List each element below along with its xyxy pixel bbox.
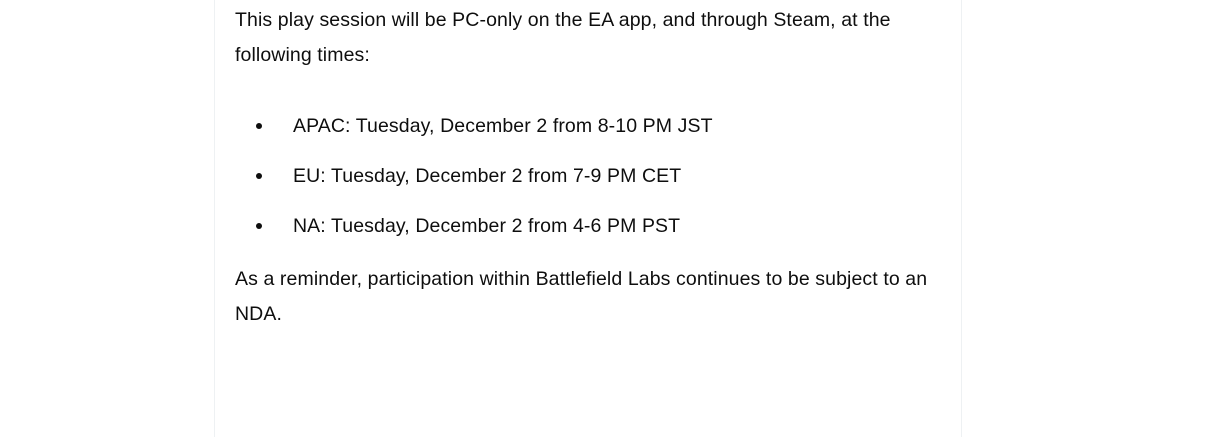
article-body: experiences, evaluated through focused L… [215, 0, 963, 332]
session-schedule-list: APAC: Tuesday, December 2 from 8-10 PM J… [235, 109, 943, 244]
list-spacer [235, 244, 943, 262]
list-item: NA: Tuesday, December 2 from 4-6 PM PST [235, 209, 943, 244]
list-item-label: NA: Tuesday, December 2 from 4-6 PM PST [293, 215, 680, 237]
intro-paragraph: This play session will be PC-only on the… [235, 3, 943, 73]
list-item-label: APAC: Tuesday, December 2 from 8-10 PM J… [293, 115, 713, 137]
list-item: APAC: Tuesday, December 2 from 8-10 PM J… [235, 109, 943, 144]
page-root: experiences, evaluated through focused L… [0, 0, 1207, 437]
bullet-dot-icon [256, 223, 262, 229]
list-item: EU: Tuesday, December 2 from 7-9 PM CET [235, 159, 943, 194]
list-item-label: EU: Tuesday, December 2 from 7-9 PM CET [293, 165, 681, 187]
bullet-dot-icon [256, 173, 262, 179]
article-content-column: experiences, evaluated through focused L… [214, 0, 962, 437]
closing-paragraph: As a reminder, participation within Batt… [235, 262, 943, 332]
bullet-dot-icon [256, 123, 262, 129]
